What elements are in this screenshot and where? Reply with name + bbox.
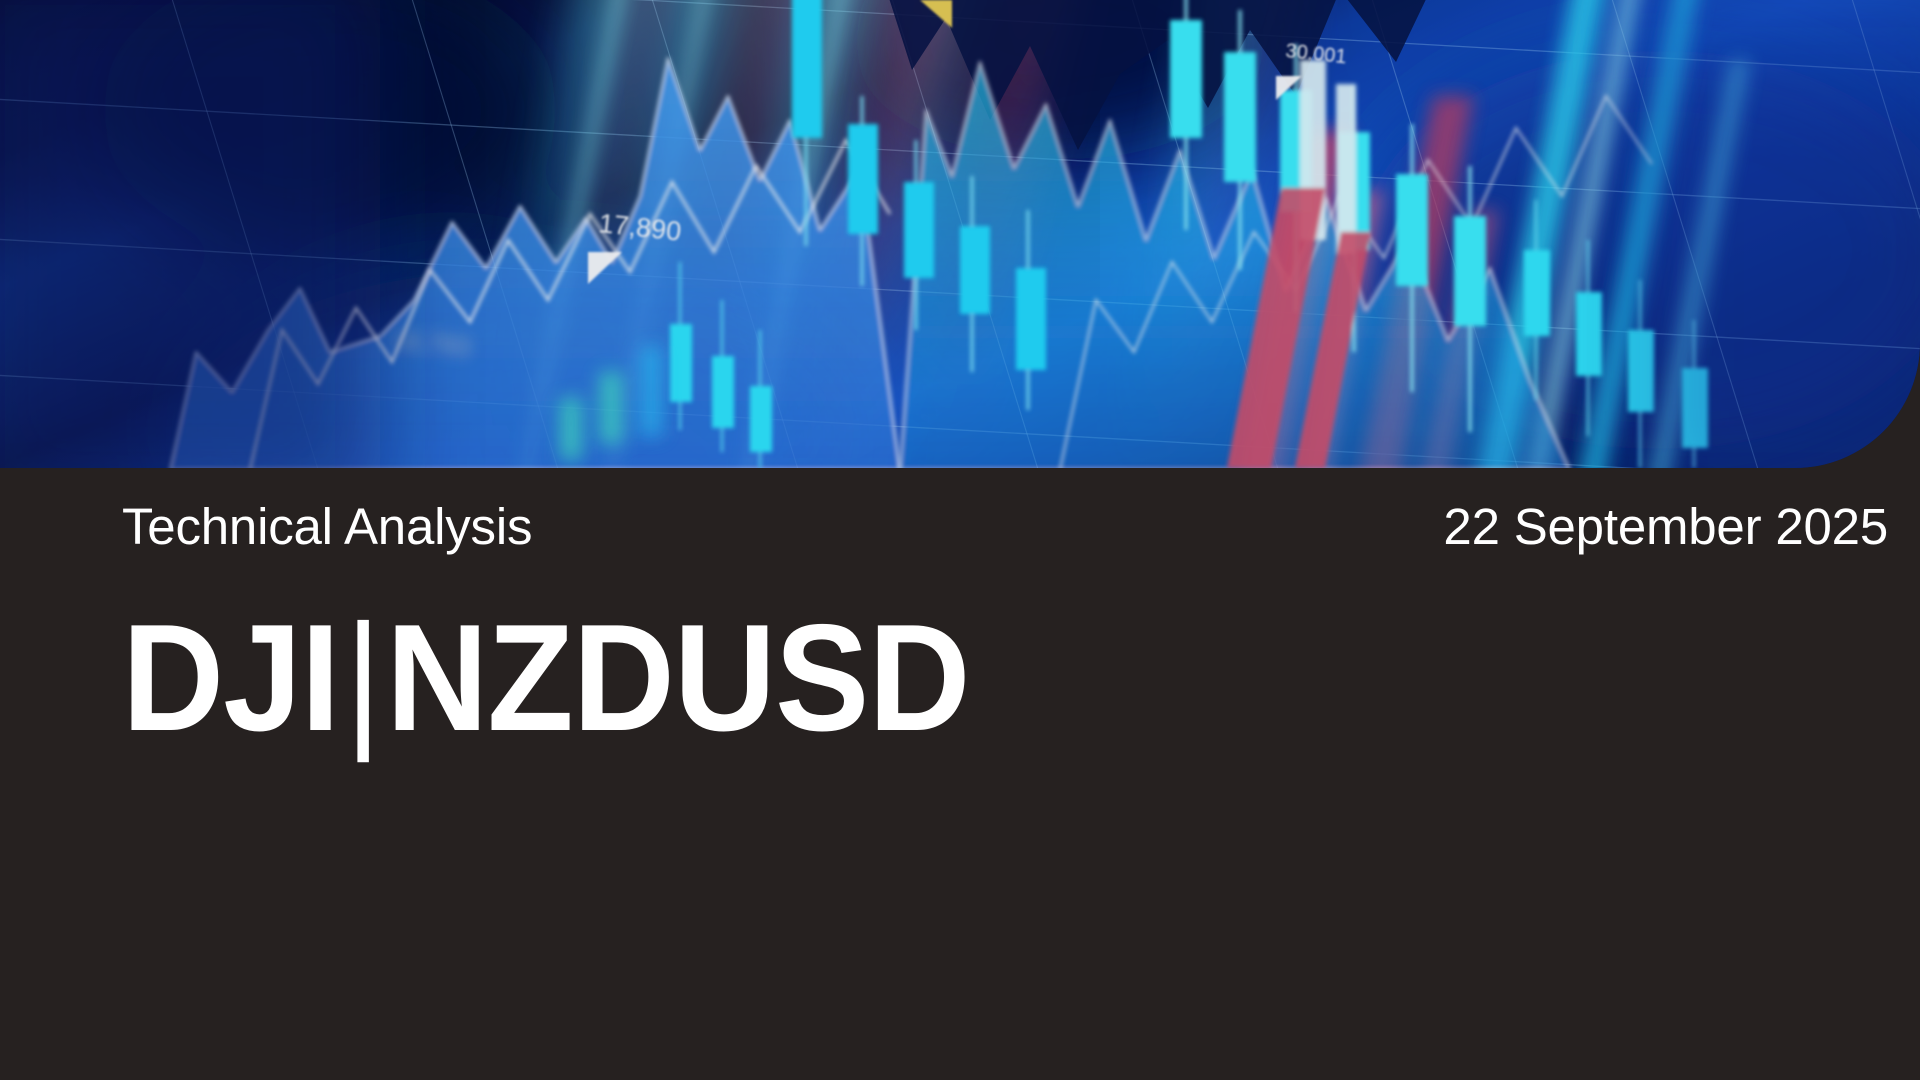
financial-chart-graphic: 17,890 30.001 18,793 bbox=[0, 0, 1920, 468]
slide-kicker-label: Technical Analysis bbox=[122, 501, 532, 552]
slide-text-panel: Technical Analysis 22 September 2025 DJI… bbox=[0, 468, 1920, 1080]
presentation-slide: 17,890 30.001 18,793 bbox=[0, 0, 1920, 1080]
page-title-instrument-left: DJI bbox=[122, 593, 339, 763]
page-title-instrument-right: NZDUSD bbox=[386, 593, 969, 763]
page-title-separator: | bbox=[339, 593, 386, 763]
hero-background-image: 17,890 30.001 18,793 bbox=[0, 0, 1920, 468]
page-title: DJI|NZDUSD bbox=[122, 596, 970, 760]
slide-date-label: 22 September 2025 bbox=[1443, 501, 1888, 552]
slide-meta-row: Technical Analysis 22 September 2025 bbox=[122, 492, 1888, 560]
